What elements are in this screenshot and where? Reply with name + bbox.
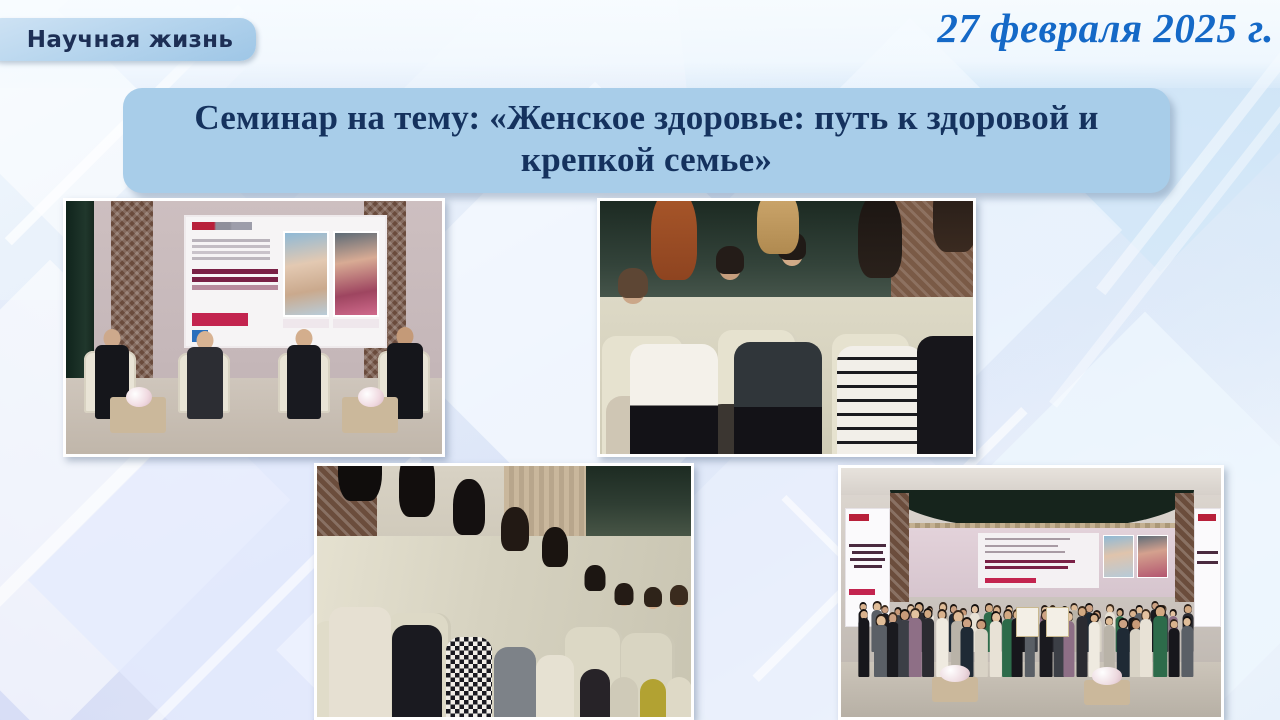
slide-date: 27 февраля 2025 г. (937, 4, 1274, 52)
group-photo-person (1076, 608, 1088, 677)
photo-audience-rows[interactable] (314, 463, 694, 720)
photo-audience-rows-image (317, 466, 691, 717)
page-title: Семинар на тему: «Женское здоровье: путь… (149, 97, 1144, 180)
group-photo-person (858, 611, 870, 677)
photo-panel-speakers[interactable] (63, 198, 445, 457)
section-badge[interactable]: Научная жизнь (0, 18, 256, 61)
group-photo-person (1139, 611, 1152, 677)
section-badge-label: Научная жизнь (9, 27, 233, 53)
photo-audience-closeup-image (600, 201, 973, 454)
group-photo-person (1181, 618, 1193, 677)
title-banner: Семинар на тему: «Женское здоровье: путь… (123, 88, 1170, 193)
photo-group[interactable] (838, 465, 1224, 720)
photo-audience-closeup[interactable] (597, 198, 976, 457)
slide-root: Научная жизнь 27 февраля 2025 г. Семинар… (0, 0, 1280, 720)
photo-panel-speakers-image (66, 201, 442, 454)
group-photo-person (989, 613, 1002, 677)
group-photo-person (1117, 620, 1130, 677)
group-photo-person (1153, 607, 1167, 677)
group-photo-person (921, 610, 934, 677)
group-photo-person (1168, 621, 1179, 678)
group-photo-person (909, 610, 922, 677)
photo-group-image (841, 468, 1221, 717)
stage-screen (978, 533, 1100, 588)
group-photo-person (975, 621, 988, 677)
